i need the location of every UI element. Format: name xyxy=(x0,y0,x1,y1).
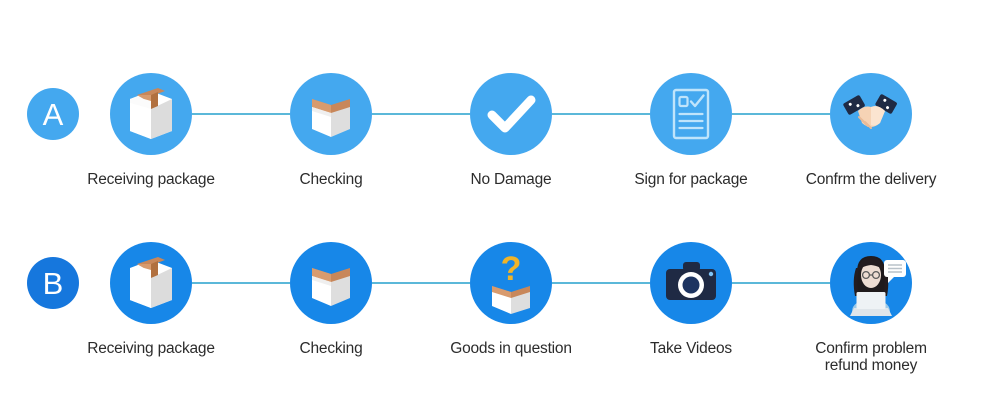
svg-text:?: ? xyxy=(501,250,522,288)
camera-icon xyxy=(650,242,732,324)
sealed-box-icon xyxy=(110,242,192,324)
connector-line xyxy=(372,282,470,284)
connector-line xyxy=(552,282,650,284)
signed-document-icon xyxy=(650,73,732,155)
check-mark-icon xyxy=(470,73,552,155)
step-label: Confrm the delivery xyxy=(756,171,986,188)
sealed-box-icon xyxy=(110,73,192,155)
connector-line xyxy=(552,113,650,115)
delivery-process-infographic: A Receiving package xyxy=(0,0,1000,406)
question-box-icon: ? xyxy=(470,242,552,324)
process-row-a: A Receiving package xyxy=(0,24,1000,204)
support-agent-icon xyxy=(830,242,912,324)
handshake-icon xyxy=(830,73,912,155)
connector-line xyxy=(732,282,830,284)
row-badge-a: A xyxy=(27,88,79,140)
connector-line xyxy=(372,113,470,115)
step-label: Confirm problem refund money xyxy=(756,340,986,374)
row-badge-b: B xyxy=(27,257,79,309)
process-row-b: B Receiving package xyxy=(0,193,1000,373)
open-box-icon xyxy=(290,73,372,155)
connector-line xyxy=(192,282,290,284)
connector-line xyxy=(192,113,290,115)
open-box-icon xyxy=(290,242,372,324)
connector-line xyxy=(732,113,830,115)
